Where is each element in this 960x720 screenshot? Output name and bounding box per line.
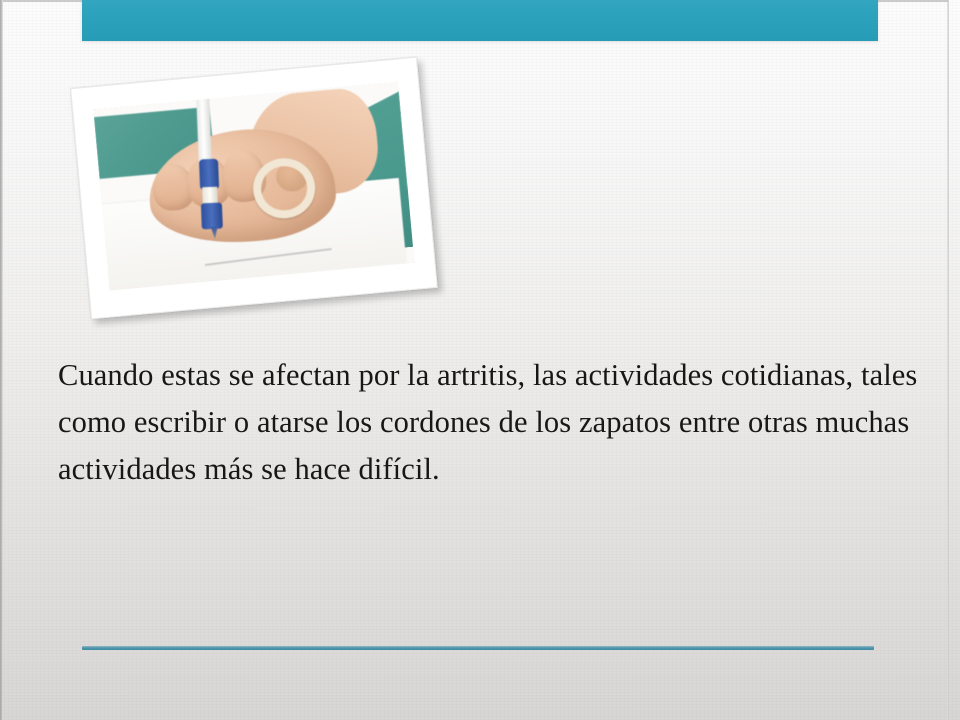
- presentation-slide: Cuando estas se afectan por la artritis,…: [0, 0, 960, 720]
- slide-right-edge: [947, 0, 949, 720]
- slide-title-bar: [82, 0, 878, 41]
- pencil-stroke: [205, 248, 332, 266]
- photo-scene: [93, 82, 414, 291]
- slide-top-right-edge: [878, 0, 948, 2]
- slide-photo: [93, 82, 414, 291]
- slide-bottom-accent-rule: [82, 646, 874, 650]
- pen-grip-lower: [201, 203, 223, 230]
- pen-grip-upper: [199, 159, 219, 190]
- slide-top-left-edge: [3, 0, 83, 2]
- pen-shaft: [196, 95, 212, 163]
- slide-body-paragraph: Cuando estas se afectan por la artritis,…: [58, 352, 944, 493]
- slide-title-text: [82, 0, 878, 16]
- slide-photo-frame: [70, 57, 438, 320]
- slide-left-edge: [0, 0, 3, 720]
